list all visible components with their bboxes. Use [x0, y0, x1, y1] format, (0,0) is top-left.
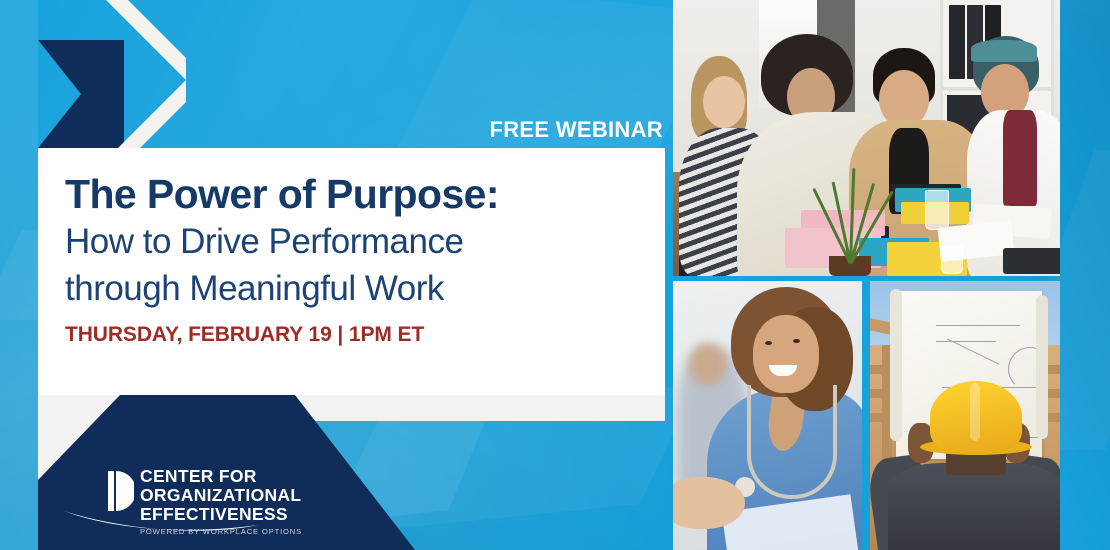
subtitle-line-2: through Meaningful Work — [65, 269, 645, 310]
water-glass — [941, 246, 963, 274]
logo-line-2: ORGANIZATIONAL — [140, 486, 302, 505]
decorative-mark-group — [0, 0, 230, 160]
logo-lockup: CENTER FOR ORGANIZATIONAL EFFECTIVENESS … — [108, 465, 338, 543]
face — [753, 315, 819, 393]
blueprint-line — [936, 341, 996, 342]
logo-text-block: CENTER FOR ORGANIZATIONAL EFFECTIVENESS … — [140, 465, 302, 536]
vest — [1003, 110, 1037, 206]
logo-line-3: EFFECTIVENESS — [140, 505, 302, 524]
construction-scene — [870, 281, 1060, 550]
construction-worker-photo — [870, 281, 1060, 550]
helmet-ridge — [970, 383, 980, 441]
office-team-photo — [673, 0, 1060, 276]
head — [703, 76, 745, 128]
event-datetime: THURSDAY, FEBRUARY 19 | 1PM ET — [65, 323, 645, 347]
half-circle-logo-icon — [108, 471, 134, 511]
content-card-inner: The Power of Purpose: How to Drive Perfo… — [65, 172, 645, 347]
blueprint-roll — [1036, 295, 1048, 439]
office-scene — [673, 0, 1060, 276]
nurse-scene — [673, 281, 862, 550]
blueprint-line — [947, 338, 1000, 364]
nurse-photo — [673, 281, 862, 550]
chevron-right-icon — [0, 0, 230, 160]
water-glass — [925, 190, 949, 230]
logo-line-1: CENTER FOR — [140, 467, 302, 486]
torso — [888, 463, 1060, 550]
blueprint-line — [936, 325, 1020, 326]
eye — [765, 341, 772, 345]
page-title: The Power of Purpose: — [65, 172, 645, 216]
subtitle-line-1: How to Drive Performance — [65, 222, 645, 263]
laptop — [1003, 248, 1060, 274]
logo-tagline: POWERED BY WORKPLACE OPTIONS — [140, 527, 302, 536]
webinar-promo-banner: FREE WEBINAR The Power of Purpose: How t… — [0, 0, 1110, 550]
blueprint-roll — [890, 289, 902, 441]
head-scarf — [971, 40, 1037, 62]
stethoscope — [747, 385, 837, 499]
eye — [793, 339, 800, 343]
eyebrow-label: FREE WEBINAR — [490, 117, 664, 143]
content-card: The Power of Purpose: How to Drive Perfo… — [38, 148, 665, 395]
background-person-head — [689, 343, 727, 385]
